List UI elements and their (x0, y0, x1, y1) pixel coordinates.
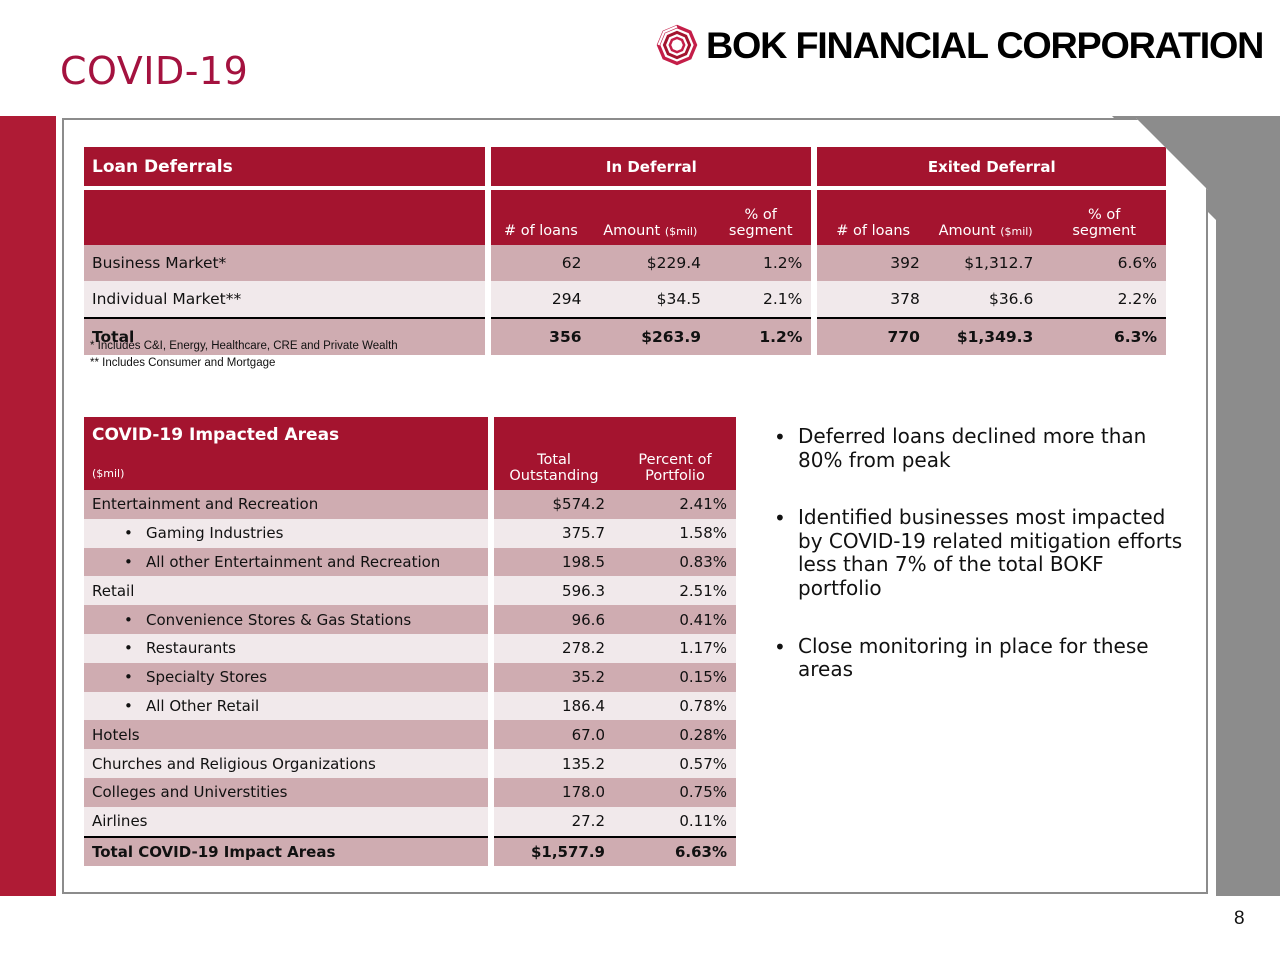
table-row: •Specialty Stores35.20.15% (84, 663, 736, 692)
cell-percent-portfolio: 0.11% (614, 807, 736, 836)
table-row: •Convenience Stores & Gas Stations96.60.… (84, 605, 736, 634)
bullet-dot-icon: • (124, 697, 146, 715)
impact-title: COVID-19 Impacted Areas (84, 417, 488, 445)
table-row: Churches and Religious Organizations135.… (84, 749, 736, 778)
label-line1: Total (537, 452, 571, 468)
table-cell: 2.2% (1042, 281, 1166, 317)
table-header-row: Loan Deferrals In Deferral Exited Deferr… (84, 147, 1166, 186)
row-label: •Specialty Stores (84, 663, 488, 692)
table-row: •Gaming Industries375.71.58% (84, 519, 736, 548)
footnotes: * Includes C&I, Energy, Healthcare, CRE … (90, 338, 398, 371)
cell-total-outstanding: 135.2 (494, 749, 614, 778)
list-item: • Close monitoring in place for these ar… (760, 635, 1188, 682)
table-cell: 1.2% (710, 317, 811, 355)
row-label: Colleges and Universtities (84, 778, 488, 807)
footnote-1: * Includes C&I, Energy, Healthcare, CRE … (90, 338, 398, 355)
key-points-list: • Deferred loans declined more than 80% … (760, 425, 1188, 716)
cell-total-outstanding: 278.2 (494, 634, 614, 663)
subheader-pct-segment-in: % ofsegment (710, 190, 811, 245)
subheader-num-loans-in: # of loans (491, 190, 590, 245)
cell-percent-portfolio: 0.78% (614, 692, 736, 721)
row-label: •All Other Retail (84, 692, 488, 721)
cell-percent-portfolio: 2.51% (614, 576, 736, 605)
row-label: •Convenience Stores & Gas Stations (84, 605, 488, 634)
bullet-dot-icon: • (124, 668, 146, 686)
table-cell: 6.3% (1042, 317, 1166, 355)
cell-total-outstanding: 35.2 (494, 663, 614, 692)
cell-total-outstanding: 375.7 (494, 519, 614, 548)
unit: ($mil) (665, 225, 697, 238)
table-cell: 392 (817, 245, 928, 281)
row-label: Individual Market** (84, 281, 485, 317)
page-title: COVID-19 (60, 52, 248, 90)
cell-percent-portfolio: 6.63% (614, 836, 736, 867)
table-cell: 378 (817, 281, 928, 317)
logo-wordmark: BOK FINANCIAL CORPORATION (706, 27, 1263, 64)
row-label: Business Market* (84, 245, 485, 281)
row-label-text: Restaurants (146, 639, 236, 657)
cell-total-outstanding: $574.2 (494, 490, 614, 519)
row-label-text: Specialty Stores (146, 668, 267, 686)
page-number: 8 (1234, 908, 1245, 930)
cell-percent-portfolio: 0.28% (614, 720, 736, 749)
cell-total-outstanding: 96.6 (494, 605, 614, 634)
row-label: Total COVID-19 Impact Areas (84, 836, 488, 867)
subheader-num-loans-exited: # of loans (817, 190, 928, 245)
row-label: Churches and Religious Organizations (84, 749, 488, 778)
deferrals-title: Loan Deferrals (84, 147, 485, 186)
bullet-dot-icon: • (124, 639, 146, 657)
cell-total-outstanding: 67.0 (494, 720, 614, 749)
table-cell: $229.4 (591, 245, 711, 281)
table-cell: $36.6 (929, 281, 1042, 317)
list-item: • Identified businesses most impacted by… (760, 506, 1188, 600)
table-cell: 1.2% (710, 245, 811, 281)
table-cell: 62 (491, 245, 590, 281)
covid-impacted-areas-table: COVID-19 Impacted Areas ($mil) TotalOuts… (84, 417, 736, 866)
table-subheader-row: # of loans Amount ($mil) % ofsegment # o… (84, 190, 1166, 245)
table-row: Retail596.32.51% (84, 576, 736, 605)
label-line2: segment (1072, 223, 1136, 239)
cell-percent-portfolio: 0.75% (614, 778, 736, 807)
row-label-text: Convenience Stores & Gas Stations (146, 611, 411, 629)
right-gray-panel (1216, 116, 1280, 896)
bullet-dot-icon: • (774, 507, 786, 531)
table-cell: $1,349.3 (929, 317, 1042, 355)
row-label: Hotels (84, 720, 488, 749)
group-header-exited-deferral: Exited Deferral (817, 147, 1166, 186)
cell-percent-portfolio: 0.83% (614, 548, 736, 577)
cell-total-outstanding: 186.4 (494, 692, 614, 721)
row-label-text: Gaming Industries (146, 524, 283, 542)
row-label: •Restaurants (84, 634, 488, 663)
table-cell: 6.6% (1042, 245, 1166, 281)
cell-percent-portfolio: 0.15% (614, 663, 736, 692)
impact-title-cell: COVID-19 Impacted Areas ($mil) (84, 417, 488, 490)
cell-percent-portfolio: 1.58% (614, 519, 736, 548)
impact-header-row: COVID-19 Impacted Areas ($mil) TotalOuts… (84, 417, 736, 490)
label-line2: Portfolio (645, 468, 705, 484)
table-row: •Restaurants278.21.17% (84, 634, 736, 663)
group-header-in-deferral: In Deferral (491, 147, 811, 186)
table-cell: 770 (817, 317, 928, 355)
subheader-amount-exited: Amount ($mil) (929, 190, 1042, 245)
impact-table-body: Entertainment and Recreation$574.22.41%•… (84, 490, 736, 866)
impact-unit: ($mil) (84, 445, 488, 480)
cell-total-outstanding: 596.3 (494, 576, 614, 605)
table-row: •All Other Retail186.40.78% (84, 692, 736, 721)
cell-percent-portfolio: 1.17% (614, 634, 736, 663)
row-label: Retail (84, 576, 488, 605)
label-line1: % of (745, 207, 777, 223)
cell-percent-portfolio: 0.57% (614, 749, 736, 778)
subheader-amount-in: Amount ($mil) (591, 190, 711, 245)
table-row: Colleges and Universtities178.00.75% (84, 778, 736, 807)
bullet-dot-icon: • (774, 426, 786, 450)
label-line1: % of (1088, 207, 1120, 223)
cell-total-outstanding: $1,577.9 (494, 836, 614, 867)
row-label-text: All other Entertainment and Recreation (146, 553, 440, 571)
table-cell: 356 (491, 317, 590, 355)
table-cell: 2.1% (710, 281, 811, 317)
label-line2: segment (729, 223, 793, 239)
cell-total-outstanding: 198.5 (494, 548, 614, 577)
company-logo: BOK FINANCIAL CORPORATION (656, 24, 1252, 66)
footnote-2: ** Includes Consumer and Mortgage (90, 355, 398, 372)
label: # of loans (504, 223, 578, 239)
left-accent-bar (0, 116, 56, 896)
bullet-dot-icon: • (774, 636, 786, 660)
bok-octagon-spiral-icon (656, 24, 698, 66)
label-line2: Outstanding (509, 468, 598, 484)
table-row: Hotels67.00.28% (84, 720, 736, 749)
subheader-blank (84, 190, 485, 245)
cell-percent-portfolio: 2.41% (614, 490, 736, 519)
table-row: •All other Entertainment and Recreation1… (84, 548, 736, 577)
slide-header: COVID-19 BOK FINANCIAL CORPORATION (0, 0, 1280, 116)
impact-col-total-outstanding: TotalOutstanding (494, 417, 614, 490)
impact-col-percent-portfolio: Percent ofPortfolio (614, 417, 736, 490)
loan-deferrals-table: Loan Deferrals In Deferral Exited Deferr… (84, 147, 1166, 355)
table-cell: $34.5 (591, 281, 711, 317)
content-panel: Loan Deferrals In Deferral Exited Deferr… (62, 118, 1208, 894)
table-row: Airlines27.20.11% (84, 807, 736, 836)
label-line1: Percent of (638, 452, 711, 468)
table-cell: 294 (491, 281, 590, 317)
bullet-dot-icon: • (124, 524, 146, 542)
cell-total-outstanding: 178.0 (494, 778, 614, 807)
list-item: • Deferred loans declined more than 80% … (760, 425, 1188, 472)
cell-percent-portfolio: 0.41% (614, 605, 736, 634)
unit: ($mil) (1000, 225, 1032, 238)
bullet-text: Deferred loans declined more than 80% fr… (798, 424, 1146, 472)
bullet-text: Close monitoring in place for these area… (798, 634, 1149, 682)
row-label: •Gaming Industries (84, 519, 488, 548)
table-cell: $1,312.7 (929, 245, 1042, 281)
row-label: Entertainment and Recreation (84, 490, 488, 519)
bullet-text: Identified businesses most impacted by C… (798, 505, 1182, 600)
cell-total-outstanding: 27.2 (494, 807, 614, 836)
table-row: Entertainment and Recreation$574.22.41% (84, 490, 736, 519)
label: Amount (603, 223, 660, 239)
row-label: •All other Entertainment and Recreation (84, 548, 488, 577)
table-row: Individual Market**294$34.52.1%378$36.62… (84, 281, 1166, 317)
table-row: Business Market*62$229.41.2%392$1,312.76… (84, 245, 1166, 281)
subheader-pct-segment-exited: % ofsegment (1042, 190, 1166, 245)
label: # of loans (836, 223, 910, 239)
table-row: Total COVID-19 Impact Areas$1,577.96.63% (84, 836, 736, 867)
row-label: Airlines (84, 807, 488, 836)
label: Amount (939, 223, 996, 239)
table-cell: $263.9 (591, 317, 711, 355)
bullet-dot-icon: • (124, 611, 146, 629)
row-label-text: All Other Retail (146, 697, 259, 715)
bullet-dot-icon: • (124, 553, 146, 571)
